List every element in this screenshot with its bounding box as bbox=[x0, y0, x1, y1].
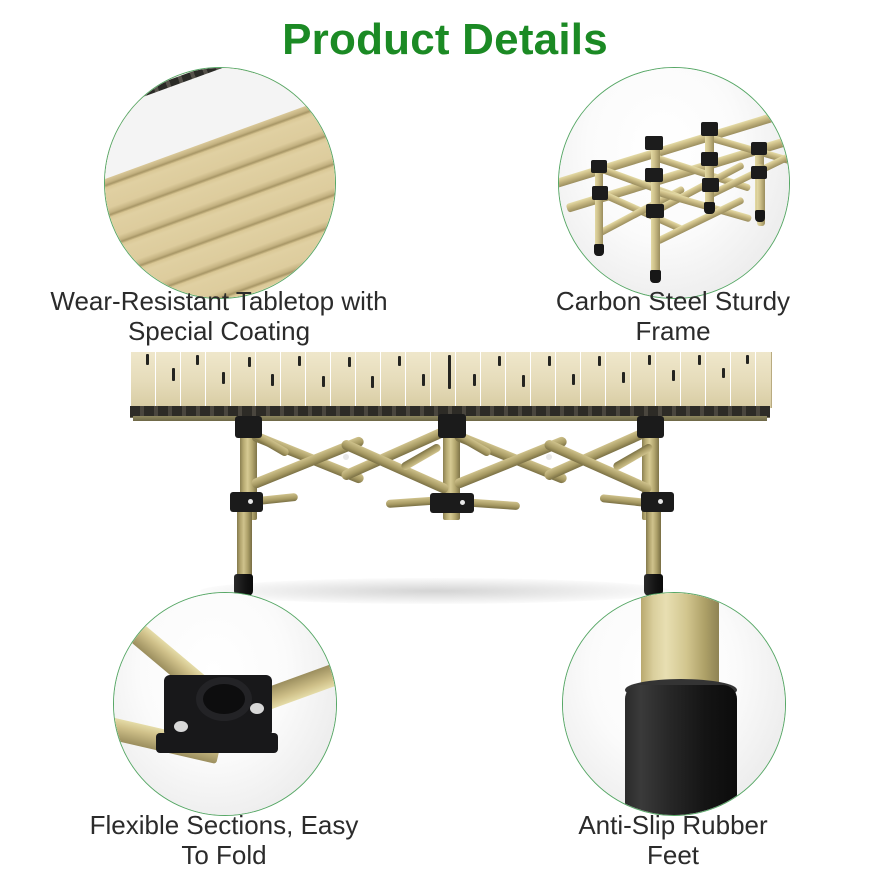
slat-fastener-mark bbox=[473, 374, 476, 386]
table-clamp-rivet bbox=[248, 499, 253, 504]
tabletop-slat bbox=[605, 352, 631, 408]
tabletop-slat bbox=[155, 352, 181, 408]
slat-fastener-mark bbox=[422, 374, 425, 386]
frame-foot-icon bbox=[594, 244, 604, 256]
table-top-clamp bbox=[438, 414, 466, 438]
table-mid-clamp bbox=[230, 492, 263, 512]
slat-fastener-mark bbox=[672, 370, 675, 381]
table-clamp-rivet bbox=[460, 500, 465, 505]
callout-caption-flexible-sections: Flexible Sections, Easy To Fold bbox=[39, 810, 409, 870]
frame-foot-icon bbox=[755, 210, 765, 222]
slat-fastener-mark bbox=[648, 355, 651, 365]
table-brace-pivot bbox=[546, 454, 552, 460]
slat-fastener-mark bbox=[448, 355, 451, 389]
slat-fastener-mark bbox=[196, 355, 199, 365]
table-clamp-rivet bbox=[658, 499, 663, 504]
tabletop-slat bbox=[730, 352, 756, 408]
slat-fastener-mark bbox=[298, 356, 301, 366]
tabletop-slat bbox=[655, 352, 681, 408]
table-top-clamp bbox=[637, 416, 664, 438]
frame-foot-icon bbox=[704, 202, 715, 214]
tabletop-slat bbox=[755, 352, 772, 408]
tabletop-slat bbox=[505, 352, 531, 408]
frame-joint-icon bbox=[645, 168, 663, 182]
tabletop-slat bbox=[630, 352, 656, 408]
tabletop-slat bbox=[380, 352, 406, 408]
slat-fastener-mark bbox=[698, 355, 701, 365]
hero-image-folding-table bbox=[130, 352, 770, 602]
callout-image-rubber-foot bbox=[562, 592, 786, 816]
callout-caption-steel-frame: Carbon Steel Sturdy Frame bbox=[518, 286, 828, 346]
caption-line-2: Feet bbox=[518, 840, 828, 870]
tabletop-slat bbox=[180, 352, 206, 408]
tabletop-slat bbox=[430, 352, 456, 408]
frame-leg-icon bbox=[595, 164, 603, 252]
frame-joint-icon bbox=[751, 142, 767, 155]
callout-image-steel-frame bbox=[558, 67, 790, 299]
frame-joint-icon bbox=[702, 178, 719, 192]
tabletop-slat bbox=[305, 352, 331, 408]
frame-foot-icon bbox=[650, 270, 661, 283]
slat-fastener-mark bbox=[271, 374, 274, 386]
tabletop-slat bbox=[280, 352, 306, 408]
frame-joint-icon bbox=[592, 186, 608, 200]
table-center-clamp bbox=[430, 493, 474, 513]
tabletop-slat bbox=[580, 352, 606, 408]
tabletop-slat bbox=[680, 352, 706, 408]
frame-joint-icon bbox=[751, 166, 767, 179]
slat-fastener-mark bbox=[498, 356, 501, 366]
caption-line-1: Flexible Sections, Easy bbox=[39, 810, 409, 840]
caption-line-1: Carbon Steel Sturdy bbox=[518, 286, 828, 316]
joint-rivet-hole-icon bbox=[174, 721, 188, 732]
table-leg-lower bbox=[237, 502, 252, 582]
tabletop-slat-group bbox=[130, 352, 770, 408]
table-brace-pivot bbox=[343, 454, 349, 460]
slat-fastener-mark bbox=[572, 374, 575, 385]
caption-line-2: Frame bbox=[518, 316, 828, 346]
callout-image-tabletop-slats bbox=[104, 67, 336, 299]
page-title: Product Details bbox=[0, 14, 890, 66]
slat-fastener-mark bbox=[746, 355, 749, 364]
slat-fastener-mark bbox=[622, 372, 625, 383]
callout-caption-tabletop: Wear-Resistant Tabletop with Special Coa… bbox=[4, 286, 434, 346]
caption-line-1: Anti-Slip Rubber bbox=[518, 810, 828, 840]
frame-joint-icon bbox=[645, 136, 663, 150]
caption-line-1: Wear-Resistant Tabletop with bbox=[4, 286, 434, 316]
callout-caption-anti-slip-feet: Anti-Slip Rubber Feet bbox=[518, 810, 828, 870]
caption-line-2: Special Coating bbox=[4, 316, 434, 346]
tabletop-slat bbox=[455, 352, 481, 408]
frame-joint-icon bbox=[701, 122, 718, 136]
slat-fastener-mark bbox=[322, 376, 325, 387]
joint-hub-base-icon bbox=[156, 733, 278, 753]
slat-fastener-mark bbox=[548, 356, 551, 366]
slat-fastener-mark bbox=[172, 368, 175, 381]
tabletop-slat bbox=[355, 352, 381, 408]
frame-joint-icon bbox=[701, 152, 718, 166]
callout-image-folding-joint bbox=[113, 592, 337, 816]
tabletop-slat bbox=[555, 352, 581, 408]
tabletop-slat bbox=[705, 352, 731, 408]
slat-fastener-mark bbox=[348, 357, 351, 367]
slat-fastener-mark bbox=[522, 375, 525, 387]
table-leg-lower bbox=[646, 502, 661, 582]
tabletop-slat bbox=[405, 352, 431, 408]
joint-rivet-hole-icon bbox=[250, 703, 264, 714]
slat-fastener-mark bbox=[371, 376, 374, 388]
slat-fastener-mark bbox=[722, 368, 725, 378]
slat-fastener-mark bbox=[146, 354, 149, 365]
tabletop-slat bbox=[255, 352, 281, 408]
caption-line-2: To Fold bbox=[39, 840, 409, 870]
tabletop-slat bbox=[480, 352, 506, 408]
frame-joint-icon bbox=[591, 160, 607, 173]
tabletop-slat bbox=[530, 352, 556, 408]
product-details-page: Product Details Wear-Resistant Tabletop … bbox=[0, 0, 890, 890]
slat-fastener-mark bbox=[398, 356, 401, 366]
tabletop-slat bbox=[205, 352, 231, 408]
tabletop-slat bbox=[230, 352, 256, 408]
slat-fastener-mark bbox=[248, 357, 251, 367]
tabletop-slat bbox=[130, 352, 156, 408]
frame-leg-icon bbox=[705, 124, 714, 212]
frame-joint-icon bbox=[646, 204, 664, 218]
rubber-foot-icon bbox=[625, 685, 737, 816]
table-top-clamp bbox=[235, 416, 262, 438]
joint-hub-socket-icon bbox=[196, 677, 252, 721]
slat-fastener-mark bbox=[222, 372, 225, 384]
slat-fastener-mark bbox=[598, 356, 601, 366]
tabletop-slat bbox=[330, 352, 356, 408]
